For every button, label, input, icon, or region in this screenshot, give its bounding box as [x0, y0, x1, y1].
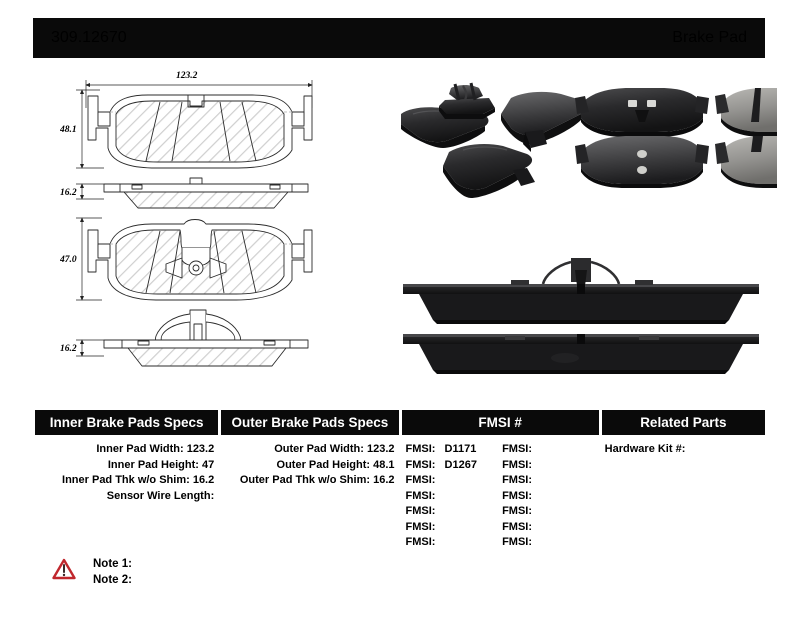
outer-pad-front-view [76, 80, 312, 168]
spec-row: Outer Pad Width: 123.2 [221, 442, 394, 458]
fmsi-label: FMSI: [406, 473, 436, 489]
column-body-outer: Outer Pad Width: 123.2 Outer Pad Height:… [221, 435, 398, 489]
spec-row: Inner Pad Height: 47 [35, 458, 214, 474]
note-line-1: Note 1: [93, 556, 132, 572]
fmsi-row: FMSI: [502, 504, 599, 520]
fmsi-row: FMSI: [406, 504, 503, 520]
fmsi-grid: FMSI: D1171 FMSI: D1267 FMSI: FMSI: FMSI… [402, 435, 599, 551]
column-related-parts: Related Parts Hardware Kit #: [602, 410, 765, 551]
notes-section: Note 1: Note 2: [52, 556, 132, 588]
fmsi-label: FMSI: [502, 458, 532, 474]
column-fmsi: FMSI # FMSI: D1171 FMSI: D1267 FMSI: FMS… [402, 410, 599, 551]
column-inner-brake-pads-specs: Inner Brake Pads Specs Inner Pad Width: … [35, 410, 218, 551]
notes-text: Note 1: Note 2: [93, 556, 132, 588]
fmsi-value: D1267 [439, 458, 477, 474]
related-part-row: Hardware Kit #: [605, 442, 765, 458]
spec-row: Outer Pad Height: 48.1 [221, 458, 394, 474]
inner-pad-front-view [76, 218, 312, 300]
fmsi-label: FMSI: [406, 535, 436, 551]
fmsi-row: FMSI: [502, 489, 599, 505]
fmsi-row: FMSI: [502, 458, 599, 474]
spec-row: Inner Pad Width: 123.2 [35, 442, 214, 458]
note-line-2: Note 2: [93, 572, 132, 588]
warning-triangle-icon [52, 558, 76, 580]
fmsi-label: FMSI: [406, 442, 436, 458]
fmsi-row: FMSI: D1171 [406, 442, 503, 458]
pad-edge-photo [403, 258, 759, 374]
fmsi-label: FMSI: [502, 535, 532, 551]
fmsi-row: FMSI: [502, 442, 599, 458]
fmsi-label: FMSI: [406, 489, 436, 505]
fmsi-label: FMSI: [502, 504, 532, 520]
fmsi-row: FMSI: [502, 535, 599, 551]
fmsi-row: FMSI: [502, 473, 599, 489]
fmsi-row: FMSI: D1267 [406, 458, 503, 474]
fmsi-column-right: FMSI: FMSI: FMSI: FMSI: FMSI: [502, 442, 599, 551]
title-bar: 309.12670 Brake Pad [33, 18, 765, 58]
product-photos [385, 70, 785, 375]
fmsi-row: FMSI: [406, 489, 503, 505]
fmsi-label: FMSI: [502, 489, 532, 505]
spec-row: Outer Pad Thk w/o Shim: 16.2 [221, 473, 394, 489]
column-header-related-parts: Related Parts [602, 410, 765, 435]
spec-row: Inner Pad Thk w/o Shim: 16.2 [35, 473, 214, 489]
product-type: Brake Pad [672, 29, 747, 47]
fmsi-row: FMSI: [406, 520, 503, 536]
fmsi-label: FMSI: [406, 520, 436, 536]
dimension-label-thickness-162-inner: 16.2 [60, 344, 77, 354]
specifications-table: Inner Brake Pads Specs Inner Pad Width: … [35, 410, 765, 551]
fmsi-row: FMSI: [406, 473, 503, 489]
column-header-outer: Outer Brake Pads Specs [221, 410, 398, 435]
fmsi-value: D1171 [439, 442, 477, 458]
dimension-label-height-470: 47.0 [60, 255, 77, 265]
dimension-label-width-123: 123.2 [176, 71, 198, 81]
dimension-label-thickness-162-outer: 16.2 [60, 188, 77, 198]
fmsi-label: FMSI: [406, 458, 436, 474]
dimension-label-height-481: 48.1 [60, 125, 77, 135]
pad-set-flat-photo [575, 88, 777, 188]
fmsi-row: FMSI: [406, 535, 503, 551]
fmsi-label: FMSI: [502, 442, 532, 458]
pad-set-angled-photo [401, 83, 587, 198]
outer-pad-edge-view [76, 178, 308, 208]
column-outer-brake-pads-specs: Outer Brake Pads Specs Outer Pad Width: … [221, 410, 398, 551]
fmsi-label: FMSI: [502, 520, 532, 536]
column-header-fmsi: FMSI # [402, 410, 599, 435]
spec-row: Sensor Wire Length: [35, 489, 214, 505]
fmsi-column-left: FMSI: D1171 FMSI: D1267 FMSI: FMSI: FMSI… [406, 442, 503, 551]
fmsi-label: FMSI: [406, 504, 436, 520]
column-body-related-parts: Hardware Kit #: [602, 435, 765, 458]
part-number: 309.12670 [51, 29, 127, 47]
fmsi-row: FMSI: [502, 520, 599, 536]
technical-drawings: 123.2 48.1 16.2 47.0 16.2 [60, 68, 380, 378]
column-header-inner: Inner Brake Pads Specs [35, 410, 218, 435]
fmsi-label: FMSI: [502, 473, 532, 489]
inner-pad-edge-view-with-clip [76, 310, 308, 366]
column-body-inner: Inner Pad Width: 123.2 Inner Pad Height:… [35, 435, 218, 504]
